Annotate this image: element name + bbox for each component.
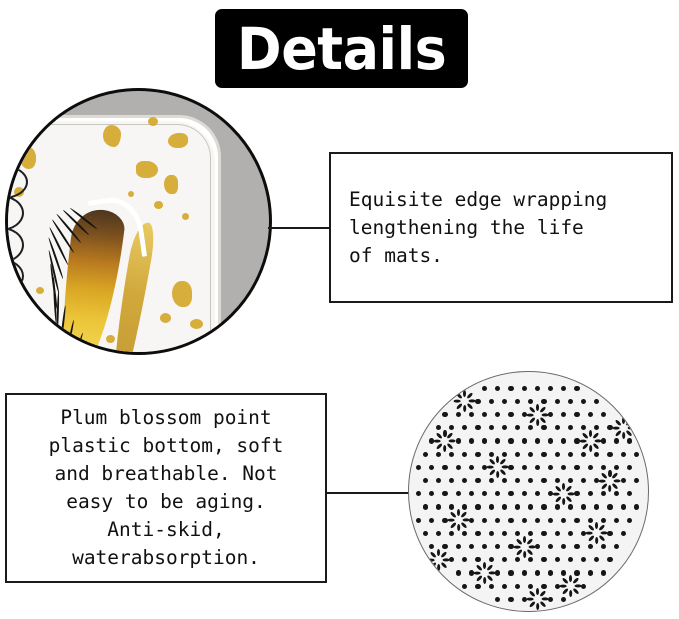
flower-petal [561,588,568,595]
pattern-dot [621,504,626,509]
pattern-dot [502,425,507,430]
flower-petal [601,472,608,479]
flower-petal [562,483,565,490]
pattern-dot [561,438,566,443]
pattern-dot [581,584,586,589]
pattern-dot [429,544,434,549]
flower-petal [589,445,592,452]
flower-petal [526,548,533,555]
pattern-dot [495,491,500,496]
pattern-dot [528,584,533,589]
pattern-dot [561,570,566,575]
gold-splatter [106,335,115,343]
flower-petal [496,471,499,478]
pattern-dot [489,504,494,509]
page-title: Details [237,20,446,78]
flower-petal [449,522,456,529]
flower-petal [443,445,446,452]
pattern-dot [489,399,494,404]
pattern-dot [456,544,461,549]
pattern-dot [607,557,612,562]
pattern-dot [489,531,494,536]
pattern-dot [502,584,507,589]
photo-mat-corner [5,88,272,355]
pattern-dot [449,557,454,562]
pattern-dot [469,412,474,417]
pattern-dot [429,518,434,523]
pattern-dot [515,504,520,509]
pattern-dot [555,531,560,536]
pattern-dot [581,478,586,483]
flower-petal [592,432,599,439]
pattern-dot [508,570,513,575]
pattern-dot [475,478,480,483]
pattern-dot [627,438,632,443]
pattern-dot [548,386,553,391]
flower-petal [526,538,533,545]
pattern-dot [581,557,586,562]
pattern-dot [508,438,513,443]
flower-petal [515,538,522,545]
pattern-dot [429,491,434,496]
pattern-dot [502,399,507,404]
pattern-dot [495,412,500,417]
flower-petal [562,498,565,505]
pattern-dot [588,518,593,523]
pattern-dot [462,452,467,457]
flower-petal [539,406,546,413]
pattern-dot [475,557,480,562]
dot-pattern [409,372,648,611]
gold-splatter [164,175,178,194]
pattern-dot [442,465,447,470]
flower-petal [627,426,634,429]
flower-petal [523,551,526,558]
pattern-dot [489,557,494,562]
flower-petal [581,432,588,439]
pattern-dot [495,386,500,391]
flower-petal [427,558,434,561]
flower-petal [612,426,619,429]
pattern-dot [495,438,500,443]
pattern-dot [469,518,474,523]
pattern-dot [449,452,454,457]
flower-petal [539,601,546,608]
pattern-dot [456,491,461,496]
pattern-dot [436,478,441,483]
flower-petal [622,417,625,424]
flower-petal [486,564,493,571]
pattern-dot [541,531,546,536]
pattern-dot [561,597,566,602]
pattern-dot [462,478,467,483]
flower-petal [555,495,562,502]
pattern-dot [436,531,441,536]
pattern-dot [489,452,494,457]
flower-petal [523,536,526,543]
pattern-dot [548,597,553,602]
flower-petal [592,443,599,450]
pattern-dot [561,465,566,470]
flower-petal [539,416,546,423]
flower-petal [579,439,586,442]
pattern-dot [588,412,593,417]
flower-petal [440,561,447,568]
flower-petal [460,522,467,529]
pattern-dot [634,452,639,457]
flower-petal [553,492,560,495]
pattern-dot [522,465,527,470]
pattern-dot [429,465,434,470]
flower-petal [608,485,611,492]
pattern-dot [561,412,566,417]
flower-petal [483,577,486,584]
flower-petal [513,545,520,548]
pattern-dot [574,386,579,391]
flower-petal [565,495,572,502]
pattern-dot [522,518,527,523]
pattern-dot [469,491,474,496]
pattern-dot [522,438,527,443]
pattern-dot [522,491,527,496]
pattern-dot [475,425,480,430]
pattern-dot [568,399,573,404]
flower-petal [486,575,493,582]
flower-petal [489,469,496,476]
pattern-dot [568,557,573,562]
pattern-dot [528,504,533,509]
flower-petal [536,588,539,595]
pattern-dot [462,425,467,430]
gold-splatter [168,133,188,148]
pattern-dot [508,597,513,602]
flower-petal [437,549,440,556]
flower-petal [499,469,506,476]
pattern-dot [555,399,560,404]
flower-petal [612,472,619,479]
pattern-dot [581,399,586,404]
pattern-dot [508,491,513,496]
pattern-dot [489,584,494,589]
pattern-dot [528,425,533,430]
pattern-dot [581,452,586,457]
pattern-dot [601,570,606,575]
pattern-dot [423,452,428,457]
pattern-dot [436,452,441,457]
flower-petal [474,571,481,574]
pattern-dot [627,491,632,496]
pattern-dot [588,465,593,470]
pattern-dot [528,478,533,483]
pattern-dot [561,518,566,523]
pattern-dot [475,399,480,404]
flower-petal [483,562,486,569]
pattern-dot [515,584,520,589]
pattern-dot [508,412,513,417]
callout-plastic-bottom-text: Plum blossom point plastic bottom, soft … [7,404,325,572]
flower-petal [515,548,522,555]
pattern-dot [469,544,474,549]
pattern-dot [541,452,546,457]
pattern-dot [574,465,579,470]
pattern-dot [627,518,632,523]
gold-splatter [148,117,158,126]
pattern-dot [574,518,579,523]
pattern-dot [594,425,599,430]
pattern-dot [574,544,579,549]
flower-petal [449,511,456,518]
pattern-dot [535,438,540,443]
gold-splatter [103,125,121,147]
flower-petal [437,564,440,571]
flower-petal [434,439,441,442]
flower-petal [612,482,619,489]
pattern-dot [621,478,626,483]
pattern-dot [528,399,533,404]
pattern-dot [462,531,467,536]
pattern-dot [482,386,487,391]
pattern-dot [423,478,428,483]
pattern-dot [555,504,560,509]
pattern-dot [588,491,593,496]
flower-petal [476,575,483,582]
flower-petal [555,485,562,492]
pattern-dot [416,491,421,496]
pattern-dot [456,438,461,443]
pattern-dot [607,452,612,457]
gold-splatter [154,201,163,209]
gold-splatter [20,147,36,169]
pattern-dot [482,491,487,496]
pattern-dot [416,518,421,523]
pattern-dot [588,544,593,549]
flower-petal [447,519,454,522]
pattern-dot [594,504,599,509]
pattern-dot [607,504,612,509]
gold-splatter [172,281,192,307]
pattern-dot [601,491,606,496]
flower-petal [440,551,447,558]
flower-petal [460,511,467,518]
gold-splatter [190,319,203,329]
flower-petal [536,419,539,426]
pattern-dot [561,544,566,549]
pattern-dot [535,386,540,391]
pattern-dot [515,399,520,404]
pattern-dot [614,491,619,496]
pattern-dot [508,465,513,470]
flower-petal [528,406,535,413]
flower-petal [565,485,572,492]
pattern-dot [423,531,428,536]
flower-petal [622,432,625,439]
pattern-dot [568,425,573,430]
flower-petal [429,561,436,568]
pattern-dot [594,557,599,562]
pattern-dot [614,518,619,523]
pattern-dot [621,531,626,536]
pattern-dot [601,438,606,443]
pattern-dot [601,412,606,417]
pattern-dot [502,504,507,509]
flower-petal [561,577,568,584]
flower-petal [526,413,533,416]
flower-petal [449,439,456,442]
flower-petal [569,590,572,597]
pattern-dot [522,570,527,575]
flower-petal [595,537,598,544]
pattern-dot [475,452,480,457]
pattern-dot [522,386,527,391]
gold-splatter [160,313,171,323]
pattern-dot [541,478,546,483]
pattern-dot [634,478,639,483]
pattern-dot [555,557,560,562]
pattern-dot [614,465,619,470]
pattern-dot [495,544,500,549]
flower-petal [526,598,533,601]
pattern-dot [449,425,454,430]
flower-petal [581,443,588,450]
flower-petal [614,479,621,482]
flower-petal [569,575,572,582]
pattern-dot [508,386,513,391]
pattern-dot [436,504,441,509]
pattern-dot [502,531,507,536]
gold-splatter [128,191,134,197]
pattern-dot [541,504,546,509]
pattern-dot [588,570,593,575]
pattern-dot [416,465,421,470]
flower-petal [536,404,539,411]
pattern-dot [475,584,480,589]
pattern-dot [555,478,560,483]
pattern-dot [548,465,553,470]
pattern-dot [515,557,520,562]
pattern-dot [482,412,487,417]
callout-plastic-bottom: Plum blossom point plastic bottom, soft … [5,393,327,583]
pattern-dot [456,412,461,417]
pattern-dot [594,452,599,457]
pattern-dot [535,518,540,523]
pattern-dot [456,570,461,575]
flower-petal [536,603,539,610]
callout-edge-wrapping-text: Equisite edge wrapping lengthening the l… [331,186,671,270]
flower-petal [457,524,460,531]
pattern-dot [614,544,619,549]
pattern-dot [548,570,553,575]
pattern-dot [495,518,500,523]
flower-petal [528,601,535,608]
pattern-dot [594,399,599,404]
pattern-dot [621,452,626,457]
pattern-dot [489,478,494,483]
pattern-dot [555,452,560,457]
flower-petal [466,403,473,410]
flower-petal [588,535,595,542]
pattern-dot [469,438,474,443]
pattern-dot [462,584,467,589]
flower-petal [598,535,605,542]
pattern-dot [601,465,606,470]
pattern-dot [495,597,500,602]
pattern-dot [535,570,540,575]
pattern-dot [482,438,487,443]
pattern-dot [502,452,507,457]
flower-petal [476,564,483,571]
flower-petal [572,588,579,595]
pattern-dot [541,425,546,430]
flower-petal [614,419,621,426]
pattern-dot [456,465,461,470]
pattern-dot [601,518,606,523]
pattern-dot [627,465,632,470]
flower-petal [625,419,632,426]
pattern-dot [442,544,447,549]
flower-petal [572,577,579,584]
pattern-dot [528,557,533,562]
pattern-dot [436,425,441,430]
pattern-dot [535,491,540,496]
pattern-dot [515,425,520,430]
pattern-dot [548,438,553,443]
flower-petal [456,403,463,410]
pattern-dot [548,518,553,523]
pattern-dot [528,531,533,536]
pattern-dot [634,504,639,509]
pattern-dot [541,584,546,589]
pattern-dot [423,504,428,509]
flower-petal [528,416,535,423]
pattern-dot [574,412,579,417]
pattern-dot [574,491,579,496]
pattern-dot [581,504,586,509]
pattern-dot [515,452,520,457]
connector-line-bottom [325,492,413,494]
pattern-dot [502,557,507,562]
pattern-dot [449,504,454,509]
pattern-dot [574,570,579,575]
photo-plum-blossom-backing [408,371,649,612]
pattern-dot [568,504,573,509]
pattern-dot [568,452,573,457]
pattern-dot [515,478,520,483]
pattern-dot [581,425,586,430]
flower-petal [447,432,454,439]
callout-edge-wrapping: Equisite edge wrapping lengthening the l… [329,152,673,303]
pattern-dot [508,518,513,523]
pattern-dot [442,412,447,417]
flower-petal [457,509,460,516]
pattern-dot [462,557,467,562]
pattern-dot [548,544,553,549]
gold-splatter [182,213,189,220]
pattern-dot [541,557,546,562]
flower-petal [447,443,454,450]
flower-petal [559,585,566,588]
pattern-dot [449,531,454,536]
pattern-dot [475,531,480,536]
pattern-dot [555,425,560,430]
pattern-dot [469,465,474,470]
pattern-dot [475,504,480,509]
pattern-dot [548,412,553,417]
flower-petal [589,430,592,437]
pattern-dot [535,465,540,470]
pattern-dot [528,452,533,457]
pattern-dot [614,438,619,443]
details-infographic: Details [0,0,679,619]
